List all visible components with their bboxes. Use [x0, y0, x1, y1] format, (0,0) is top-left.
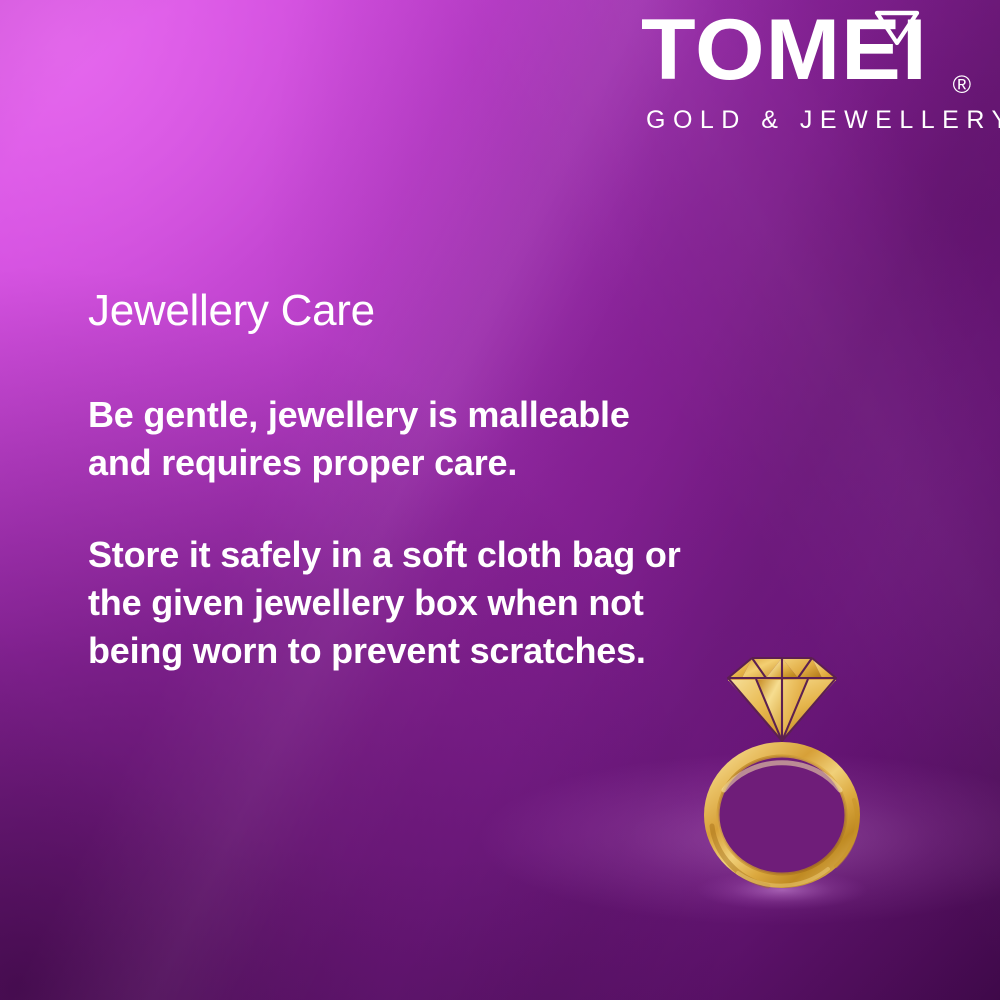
registered-trademark-icon: ®: [953, 73, 971, 98]
care-paragraph-2: Store it safely in a soft cloth bag or t…: [88, 531, 688, 675]
diamond-outline-icon: [869, 10, 925, 48]
diamond-gem-icon: [728, 658, 836, 741]
jewellery-care-poster: TOMEI ® GOLD & JEWELLERY Jewellery Care …: [0, 0, 1000, 1000]
logo-wordmark-row: TOMEI ®: [646, 8, 976, 104]
logo-tagline: GOLD & JEWELLERY: [646, 106, 976, 135]
copy-block: Jewellery Care Be gentle, jewellery is m…: [88, 286, 688, 675]
care-paragraph-1: Be gentle, jewellery is malleable and re…: [88, 391, 688, 487]
tomei-logo: TOMEI ® GOLD & JEWELLERY: [646, 8, 976, 135]
page-title: Jewellery Care: [88, 286, 688, 335]
diamond-ring-illustration: [694, 640, 870, 912]
ring-band-icon: [704, 742, 860, 888]
